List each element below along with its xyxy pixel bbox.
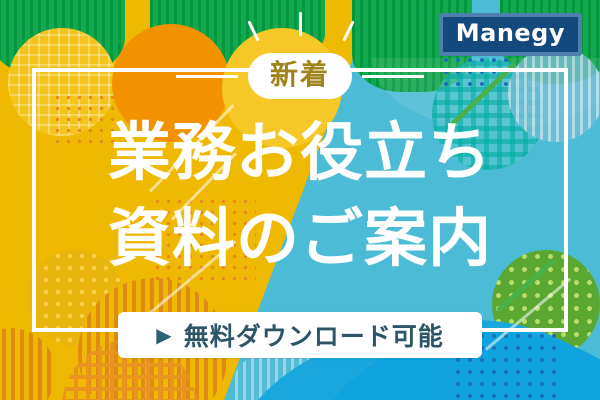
- manegy-logo[interactable]: Manegy: [439, 13, 582, 56]
- headline-line-1: 業務お役立ち: [0, 110, 600, 196]
- badge-rule-right: [362, 75, 424, 78]
- manegy-logo-text: Manegy: [456, 21, 565, 46]
- new-badge: 新着: [248, 53, 352, 98]
- promo-banner: 新着 業務お役立ち 資料のご案内 ▶ 無料ダウンロード可能 Manegy: [0, 0, 600, 400]
- play-triangle-icon: ▶: [156, 325, 171, 345]
- badge-rule-left: [176, 75, 238, 78]
- download-cta-label: 無料ダウンロード可能: [184, 317, 444, 353]
- headline: 業務お役立ち 資料のご案内: [0, 110, 600, 281]
- headline-line-2: 資料のご案内: [0, 196, 600, 282]
- new-badge-row: 新着: [0, 48, 600, 104]
- sparkle-mark-icon: [299, 12, 302, 36]
- download-cta-button[interactable]: ▶ 無料ダウンロード可能: [118, 312, 482, 358]
